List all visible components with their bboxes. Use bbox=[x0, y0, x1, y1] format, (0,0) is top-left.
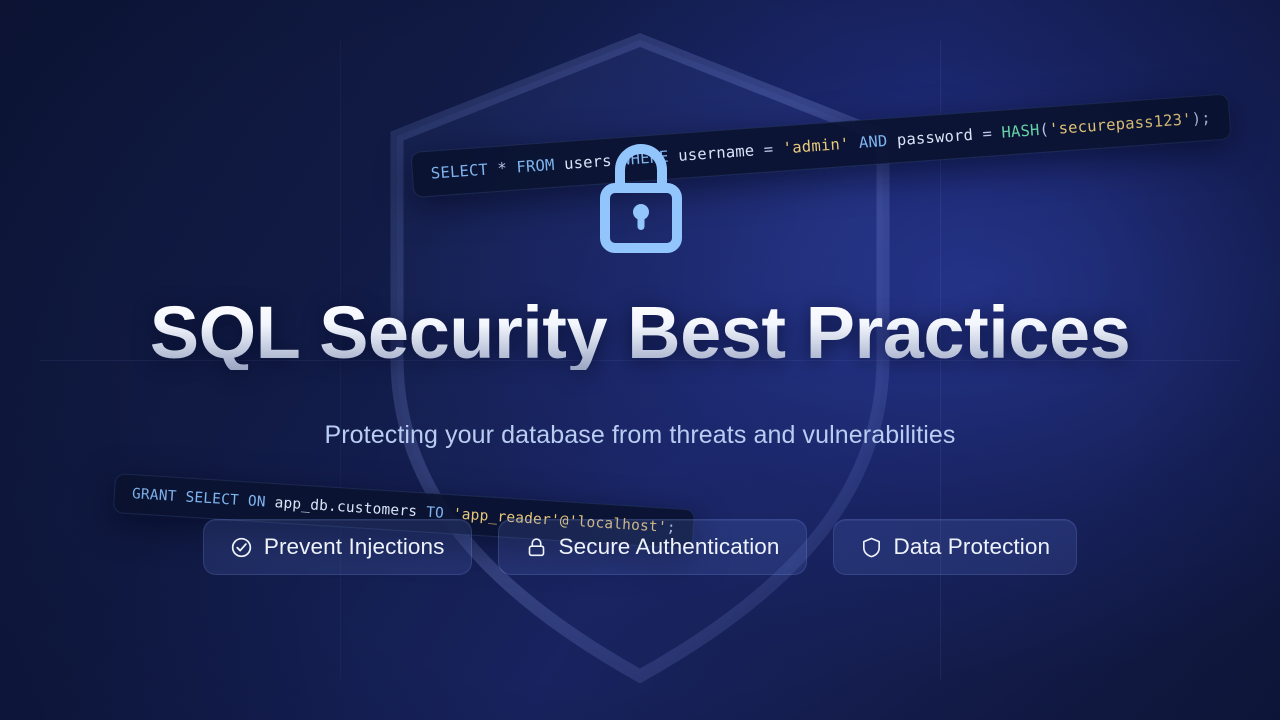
badge-label: Secure Authentication bbox=[559, 534, 780, 560]
shield-icon bbox=[860, 536, 883, 559]
sql-token: SELECT bbox=[176, 489, 239, 509]
sql-token: ON bbox=[238, 493, 266, 511]
sql-token: 'admin' bbox=[782, 135, 850, 158]
sql-snippet-select: SELECT * FROM users WHERE username = 'ad… bbox=[410, 93, 1231, 197]
sql-token: 'securepass123' bbox=[1048, 110, 1192, 138]
sql-token: SELECT bbox=[430, 161, 488, 183]
feature-badge-row: Prevent Injections Secure Authentication… bbox=[0, 519, 1280, 575]
sql-token: password bbox=[887, 125, 983, 150]
page-title: SQL Security Best Practices bbox=[0, 296, 1280, 370]
sql-token: users bbox=[554, 151, 622, 174]
lock-icon bbox=[525, 536, 548, 559]
sql-token: FROM bbox=[516, 156, 555, 177]
sql-token: AND bbox=[849, 132, 888, 153]
sql-token: * bbox=[487, 159, 517, 179]
badge-label: Data Protection bbox=[894, 534, 1051, 560]
sql-token: ); bbox=[1191, 109, 1211, 128]
sql-token: = bbox=[982, 124, 1002, 143]
sql-token: username bbox=[668, 141, 764, 166]
sql-token: = bbox=[763, 139, 783, 158]
page-subtitle: Protecting your database from threats an… bbox=[0, 421, 1280, 450]
check-circle-icon bbox=[230, 536, 253, 559]
badge-data-protection[interactable]: Data Protection bbox=[833, 519, 1078, 575]
badge-label: Prevent Injections bbox=[264, 534, 445, 560]
sql-token: HASH bbox=[1001, 121, 1040, 142]
sql-token: WHERE bbox=[621, 148, 670, 169]
sql-token: app_db.customers bbox=[265, 495, 426, 521]
badge-prevent-injections[interactable]: Prevent Injections bbox=[203, 519, 472, 575]
sql-token: GRANT bbox=[131, 486, 177, 505]
badge-secure-authentication[interactable]: Secure Authentication bbox=[498, 519, 807, 575]
hero-slide: SELECT * FROM users WHERE username = 'ad… bbox=[0, 0, 1280, 720]
